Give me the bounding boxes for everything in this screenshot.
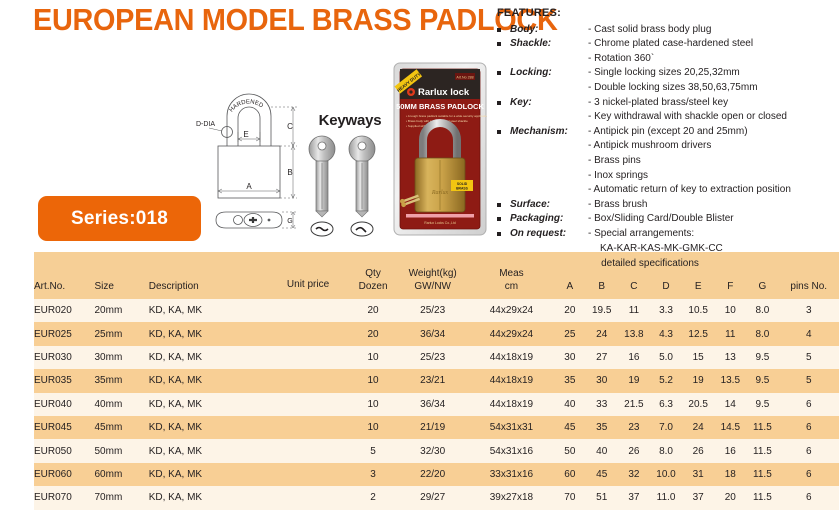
col-header-unit-price: Unit price [266, 252, 349, 299]
cell-size: 30mm [94, 346, 148, 369]
cell-meas: 44x18x19 [469, 369, 554, 392]
cell-qty-dozen: 10 [350, 369, 397, 392]
feature-row: - Antipick mushroom drivers [497, 139, 839, 154]
cell-b: 30 [586, 369, 618, 392]
table-row[interactable]: EUR03030mmKD, KA, MK1025/2344x18x1930271… [34, 346, 839, 369]
cell-description: KD, KA, MK [149, 486, 267, 509]
feature-value: - Antipick pin (except 20 and 25mm) [588, 125, 839, 140]
feature-label: Surface: [510, 198, 588, 213]
feature-value: - Single locking sizes 20,25,32mm [588, 66, 839, 81]
svg-text:• A tough brass padlock suitab: • A tough brass padlock suitable for a w… [406, 114, 487, 118]
cell-unit-price [266, 463, 349, 486]
cell-qty-dozen: 10 [350, 416, 397, 439]
cell-size: 60mm [94, 463, 148, 486]
cell-a: 20 [554, 299, 586, 322]
cell-unit-price [266, 416, 349, 439]
cell-pins: 6 [778, 486, 839, 509]
cell-b: 24 [586, 322, 618, 345]
feature-value: - Double locking sizes 38,50,63,75mm [588, 81, 839, 96]
feature-row: - Inox springs [497, 169, 839, 184]
cell-weight: 32/30 [396, 439, 468, 462]
cell-d: 6.3 [650, 393, 682, 416]
cell-description: KD, KA, MK [149, 322, 267, 345]
cell-art-no: EUR020 [34, 299, 94, 322]
cell-qty-dozen: 10 [350, 393, 397, 416]
table-row[interactable]: EUR06060mmKD, KA, MK322/2033x31x16604532… [34, 463, 839, 486]
feature-label: Packaging: [510, 212, 588, 227]
detailed-specifications-group-label: detailed specifications [530, 258, 770, 269]
cell-g: 8.0 [746, 322, 778, 345]
feature-label: Mechanism: [510, 125, 588, 140]
cell-g: 11.5 [746, 463, 778, 486]
cell-c: 37 [618, 486, 650, 509]
cell-g: 8.0 [746, 299, 778, 322]
cell-art-no: EUR030 [34, 346, 94, 369]
feature-value: - Brass pins [588, 154, 839, 169]
diagram-label-e: E [243, 130, 248, 139]
cell-meas: 44x18x19 [469, 346, 554, 369]
cell-unit-price [266, 439, 349, 462]
photo-solid-brass-badge: SOLID [457, 182, 468, 186]
feature-value: - Cast solid brass body plug [588, 23, 839, 38]
col-header-weight: Weight(kg) GW/NW [396, 252, 468, 299]
cell-unit-price [266, 486, 349, 509]
cell-art-no: EUR070 [34, 486, 94, 509]
cell-size: 45mm [94, 416, 148, 439]
table-row[interactable]: EUR07070mmKD, KA, MK229/2739x27x18705137… [34, 486, 839, 509]
cell-c: 32 [618, 463, 650, 486]
cell-b: 35 [586, 416, 618, 439]
cell-a: 30 [554, 346, 586, 369]
cell-d: 8.0 [650, 439, 682, 462]
cell-e: 20.5 [682, 393, 714, 416]
cell-qty-dozen: 5 [350, 439, 397, 462]
col-header-size: Size [94, 252, 148, 299]
cell-unit-price [266, 346, 349, 369]
feature-value: - 3 nickel-plated brass/steel key [588, 96, 839, 111]
cell-pins: 6 [778, 439, 839, 462]
cell-c: 19 [618, 369, 650, 392]
feature-row: Key:- 3 nickel-plated brass/steel key [497, 96, 839, 111]
diagram-label-d-dia: D-DIA [196, 121, 215, 128]
bullet-square-icon [497, 125, 510, 134]
cell-e: 15 [682, 346, 714, 369]
cell-g: 11.5 [746, 439, 778, 462]
feature-value: - Inox springs [588, 169, 839, 184]
col-header-qty-dozen: Qty Dozen [350, 252, 397, 299]
feature-value: - Brass brush [588, 198, 839, 213]
bullet-square-icon [497, 23, 510, 32]
cell-pins: 5 [778, 346, 839, 369]
table-row[interactable]: EUR02525mmKD, KA, MK2036/3444x29x2425241… [34, 322, 839, 345]
feature-value: - Rotation 360` [588, 52, 839, 67]
diagram-label-g: G [287, 218, 292, 225]
photo-footer: Rarlux Locks Co.,Ltd [424, 221, 456, 225]
cell-c: 26 [618, 439, 650, 462]
cell-art-no: EUR025 [34, 322, 94, 345]
cell-e: 24 [682, 416, 714, 439]
cell-f: 20 [714, 486, 746, 509]
cell-description: KD, KA, MK [149, 299, 267, 322]
feature-row: On request:- Special arrangements: [497, 227, 839, 242]
cell-meas: 44x18x19 [469, 393, 554, 416]
feature-row: - Double locking sizes 38,50,63,75mm [497, 81, 839, 96]
col-header-description: Description [149, 252, 267, 299]
features-list: Body:- Cast solid brass body plugShackle… [497, 23, 839, 271]
cell-a: 60 [554, 463, 586, 486]
cell-qty-dozen: 2 [350, 486, 397, 509]
cell-art-no: EUR050 [34, 439, 94, 462]
key-profile-2 [349, 136, 375, 236]
cell-weight: 36/34 [396, 322, 468, 345]
cell-a: 45 [554, 416, 586, 439]
cell-weight: 29/27 [396, 486, 468, 509]
bullet-square-icon [497, 154, 510, 159]
feature-label: Key: [510, 96, 588, 111]
cell-b: 33 [586, 393, 618, 416]
cell-meas: 54x31x31 [469, 416, 554, 439]
feature-label: Body: [510, 23, 588, 38]
cell-a: 50 [554, 439, 586, 462]
cell-art-no: EUR040 [34, 393, 94, 416]
col-header-art-no: Art.No. [34, 252, 94, 299]
bullet-square-icon [497, 96, 510, 105]
cell-weight: 25/23 [396, 299, 468, 322]
photo-brand: Rarlux lock [418, 87, 470, 98]
cell-a: 40 [554, 393, 586, 416]
table-row[interactable]: EUR03535mmKD, KA, MK1023/2144x18x1935301… [34, 369, 839, 392]
cell-weight: 21/19 [396, 416, 468, 439]
photo-body-engraving: Rarlux [431, 190, 449, 196]
feature-label: Shackle: [510, 37, 588, 52]
cell-f: 13 [714, 346, 746, 369]
cell-pins: 4 [778, 322, 839, 345]
page-title: EUROPEAN MODEL BRASS PADLOCK [33, 2, 461, 38]
cell-f: 10 [714, 299, 746, 322]
cell-e: 37 [682, 486, 714, 509]
cell-c: 23 [618, 416, 650, 439]
feature-row: Surface:- Brass brush [497, 198, 839, 213]
cell-g: 9.5 [746, 369, 778, 392]
cell-d: 10.0 [650, 463, 682, 486]
cell-c: 21.5 [618, 393, 650, 416]
cell-f: 14 [714, 393, 746, 416]
cell-pins: 6 [778, 463, 839, 486]
cell-size: 70mm [94, 486, 148, 509]
cell-qty-dozen: 3 [350, 463, 397, 486]
diagram-label-b: B [287, 168, 292, 177]
cell-e: 26 [682, 439, 714, 462]
diagram-label-hardened: HARDENED [229, 99, 265, 113]
cell-d: 4.3 [650, 322, 682, 345]
feature-label: On request: [510, 227, 588, 242]
bullet-square-icon [497, 81, 510, 86]
features-heading: FEATURES: [497, 6, 839, 21]
cell-e: 12.5 [682, 322, 714, 345]
cell-b: 19.5 [586, 299, 618, 322]
keyways-title: Keyways [300, 112, 400, 129]
cell-a: 35 [554, 369, 586, 392]
cell-meas: 33x31x16 [469, 463, 554, 486]
cell-c: 11 [618, 299, 650, 322]
cell-d: 11.0 [650, 486, 682, 509]
cell-meas: 54x31x16 [469, 439, 554, 462]
cell-a: 25 [554, 322, 586, 345]
cell-f: 18 [714, 463, 746, 486]
cell-f: 14.5 [714, 416, 746, 439]
cell-weight: 23/21 [396, 369, 468, 392]
features-panel: FEATURES: Body:- Cast solid brass body p… [497, 6, 839, 271]
table-row[interactable]: EUR05050mmKD, KA, MK532/3054x31x16504026… [34, 439, 839, 462]
feature-row: - Brass pins [497, 154, 839, 169]
cell-size: 20mm [94, 299, 148, 322]
feature-value: - Chrome plated case-hardened steel [588, 37, 839, 52]
cell-weight: 36/34 [396, 393, 468, 416]
cell-g: 11.5 [746, 416, 778, 439]
key-profile-1 [309, 136, 335, 236]
cell-description: KD, KA, MK [149, 439, 267, 462]
cell-unit-price [266, 299, 349, 322]
col-header-pins-no: pins No. [778, 252, 839, 299]
cell-weight: 22/20 [396, 463, 468, 486]
cell-e: 19 [682, 369, 714, 392]
bullet-spacer [497, 242, 510, 247]
cell-size: 40mm [94, 393, 148, 416]
cell-art-no: EUR045 [34, 416, 94, 439]
cell-size: 25mm [94, 322, 148, 345]
photo-art-no: Art.No 288 [456, 76, 473, 80]
cell-description: KD, KA, MK [149, 416, 267, 439]
cell-g: 9.5 [746, 346, 778, 369]
bullet-square-icon [497, 169, 510, 174]
bullet-square-icon [497, 227, 510, 236]
cell-e: 31 [682, 463, 714, 486]
bullet-square-icon [497, 52, 510, 57]
cell-b: 45 [586, 463, 618, 486]
feature-value: - Key withdrawal with shackle open or cl… [588, 110, 839, 125]
cell-unit-price [266, 369, 349, 392]
keyways-section: Keyways [300, 112, 400, 237]
feature-value: - Special arrangements: [588, 227, 839, 242]
cell-d: 7.0 [650, 416, 682, 439]
cell-e: 10.5 [682, 299, 714, 322]
cell-pins: 3 [778, 299, 839, 322]
bullet-square-icon [497, 183, 510, 188]
cell-f: 16 [714, 439, 746, 462]
series-badge: Series:018 [38, 196, 201, 241]
feature-value: - Automatic return of key to extraction … [588, 183, 839, 198]
cell-pins: 5 [778, 369, 839, 392]
cell-qty-dozen: 20 [350, 322, 397, 345]
cell-b: 40 [586, 439, 618, 462]
cell-d: 5.2 [650, 369, 682, 392]
feature-row: Packaging:- Box/Sliding Card/Double Blis… [497, 212, 839, 227]
cell-description: KD, KA, MK [149, 346, 267, 369]
product-photo-svg: HEAVY DUTY Art.No 288 Rarlux lock 50MM B… [393, 62, 487, 236]
feature-row: - Automatic return of key to extraction … [497, 183, 839, 198]
bullet-square-icon [497, 198, 510, 207]
cell-unit-price [266, 393, 349, 416]
cell-g: 11.5 [746, 486, 778, 509]
cell-d: 5.0 [650, 346, 682, 369]
cell-b: 51 [586, 486, 618, 509]
specifications-table: Art.No. Size Description Unit price Qty … [34, 252, 839, 510]
diagram-label-a: A [246, 182, 252, 191]
cell-meas: 44x29x24 [469, 299, 554, 322]
feature-value: - Antipick mushroom drivers [588, 139, 839, 154]
cell-c: 13.8 [618, 322, 650, 345]
cell-description: KD, KA, MK [149, 369, 267, 392]
cell-art-no: EUR035 [34, 369, 94, 392]
cell-pins: 6 [778, 416, 839, 439]
cell-meas: 44x29x24 [469, 322, 554, 345]
cell-f: 11 [714, 322, 746, 345]
bullet-square-icon [497, 66, 510, 75]
cell-a: 70 [554, 486, 586, 509]
table-row[interactable]: EUR04545mmKD, KA, MK1021/1954x31x3145352… [34, 416, 839, 439]
bullet-square-icon [497, 139, 510, 144]
cell-meas: 39x27x18 [469, 486, 554, 509]
cell-size: 35mm [94, 369, 148, 392]
cell-description: KD, KA, MK [149, 393, 267, 416]
table-row[interactable]: EUR04040mmKD, KA, MK1036/3444x18x1940332… [34, 393, 839, 416]
feature-label: Locking: [510, 66, 588, 81]
cell-qty-dozen: 10 [350, 346, 397, 369]
cell-unit-price [266, 322, 349, 345]
feature-value: - Box/Sliding Card/Double Blister [588, 212, 839, 227]
svg-text:BRASS: BRASS [456, 187, 469, 191]
cell-d: 3.3 [650, 299, 682, 322]
cell-c: 16 [618, 346, 650, 369]
feature-row: - Rotation 360` [497, 52, 839, 67]
diagram-label-c: C [287, 122, 293, 131]
feature-row: Shackle:- Chrome plated case-hardened st… [497, 37, 839, 52]
bullet-square-icon [497, 212, 510, 221]
bullet-square-icon [497, 37, 510, 46]
cell-b: 27 [586, 346, 618, 369]
feature-row: Locking:- Single locking sizes 20,25,32m… [497, 66, 839, 81]
cell-size: 50mm [94, 439, 148, 462]
photo-product-name: 50MM BRASS PADLOCK [396, 102, 484, 111]
feature-row: Mechanism:- Antipick pin (except 20 and … [497, 125, 839, 140]
cell-qty-dozen: 20 [350, 299, 397, 322]
table-row[interactable]: EUR02020mmKD, KA, MK2025/2344x29x242019.… [34, 299, 839, 322]
product-package-photo: HEAVY DUTY Art.No 288 Rarlux lock 50MM B… [393, 62, 487, 236]
feature-row: Body:- Cast solid brass body plug [497, 23, 839, 38]
keyways-svg [300, 133, 400, 238]
cell-g: 9.5 [746, 393, 778, 416]
feature-row: - Key withdrawal with shackle open or cl… [497, 110, 839, 125]
cell-description: KD, KA, MK [149, 463, 267, 486]
cell-f: 13.5 [714, 369, 746, 392]
cell-pins: 6 [778, 393, 839, 416]
bullet-square-icon [497, 110, 510, 115]
cell-weight: 25/23 [396, 346, 468, 369]
cell-art-no: EUR060 [34, 463, 94, 486]
